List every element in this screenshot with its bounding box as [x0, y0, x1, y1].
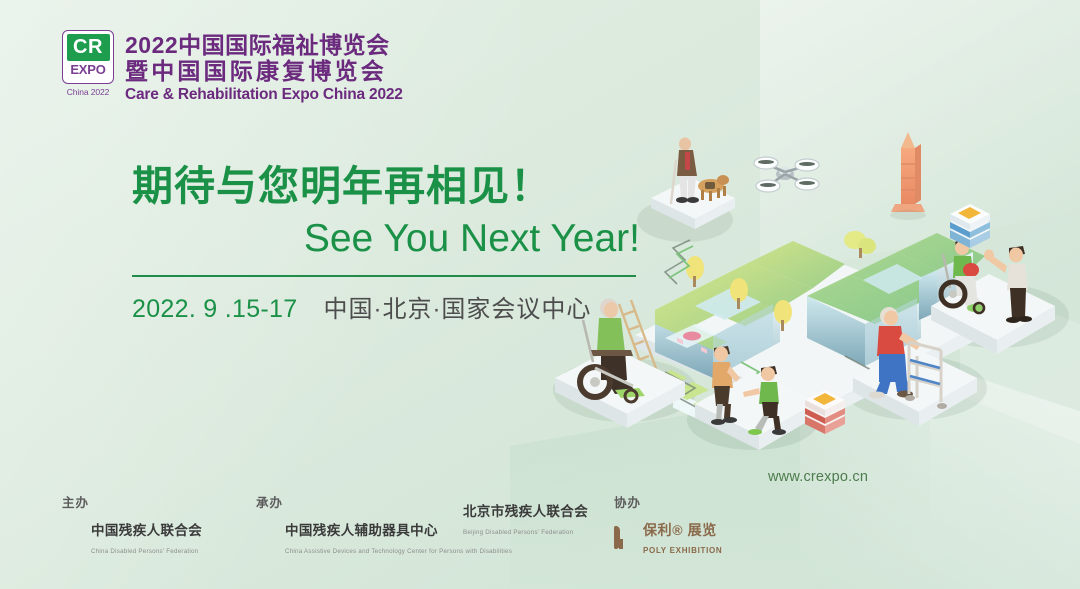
flower-badge-icon	[434, 510, 456, 532]
poly-p-icon	[614, 529, 636, 551]
sponsor-name-cn: 中国残疾人联合会	[91, 523, 202, 538]
header-titles: 2022中国国际福祉博览会 暨中国国际康复博览会 Care & Rehabili…	[125, 30, 403, 104]
sponsor-bar: 主办 中国残疾人联合会 China Disabled Persons' Fede…	[62, 492, 762, 562]
sponsor-names: 中国残疾人联合会 China Disabled Persons' Federat…	[91, 522, 202, 559]
title-cn-line2: 暨中国国际康复博览会	[125, 58, 403, 85]
logo-china-year: China 2022	[67, 87, 109, 97]
sponsor-name-cn: 北京市残疾人联合会	[463, 504, 588, 519]
obelisk-tower	[890, 132, 926, 220]
header: CR EXPO China 2022 2022中国国际福祉博览会 暨中国国际康复…	[62, 30, 403, 104]
sponsor-row: 中国残疾人联合会 China Disabled Persons' Federat…	[62, 522, 202, 559]
sponsor-group-coorganizer: 协办 保利® 展览 POLY EXHIBITION	[614, 492, 722, 559]
sponsor-name-en: China Assistive Devices and Technology C…	[285, 548, 512, 555]
sponsor-role-label: 协办	[614, 492, 722, 511]
title-en: Care & Rehabilitation Expo China 2022	[125, 85, 403, 104]
sponsor-name-cn: 中国残疾人辅助器具中心	[285, 523, 438, 538]
expo-logo: CR EXPO China 2022	[62, 30, 114, 97]
sponsor-name-cn: 保利® 展览	[643, 522, 717, 538]
sponsor-names: 北京市残疾人联合会 Beijing Disabled Persons' Fede…	[463, 503, 588, 540]
oval-badge-icon	[256, 529, 278, 551]
flower-badge-icon	[62, 529, 84, 551]
sponsor-group-organizer: 主办 中国残疾人联合会 China Disabled Persons' Fede…	[62, 492, 202, 559]
sponsor-name-en: POLY EXHIBITION	[643, 546, 722, 555]
title-cn-line1: 2022中国国际福祉博览会	[125, 32, 403, 58]
sponsor-name-en: China Disabled Persons' Federation	[91, 548, 198, 555]
sponsor-row: 北京市残疾人联合会 Beijing Disabled Persons' Fede…	[434, 503, 588, 540]
sponsor-name-en: Beijing Disabled Persons' Federation	[463, 529, 573, 536]
sponsor-row: 保利® 展览 POLY EXHIBITION	[614, 522, 722, 559]
event-date: 2022. 9 .15-17	[132, 295, 297, 324]
stacked-box-blue	[950, 204, 990, 248]
sponsor-names: 保利® 展览 POLY EXHIBITION	[643, 522, 722, 559]
logo-cr-text: CR	[67, 34, 110, 61]
sponsor-group-beijing: 北京市残疾人联合会 Beijing Disabled Persons' Fede…	[434, 492, 588, 540]
website-url[interactable]: www.crexpo.cn	[768, 469, 868, 485]
sponsor-role-label: 主办	[62, 492, 202, 511]
logo-box: CR EXPO	[62, 30, 114, 84]
logo-expo-text: EXPO	[70, 61, 105, 78]
poster-canvas: CR EXPO China 2022 2022中国国际福祉博览会 暨中国国际康复…	[0, 0, 1080, 589]
drone-icon	[754, 157, 819, 192]
isometric-illustration	[545, 120, 1080, 500]
